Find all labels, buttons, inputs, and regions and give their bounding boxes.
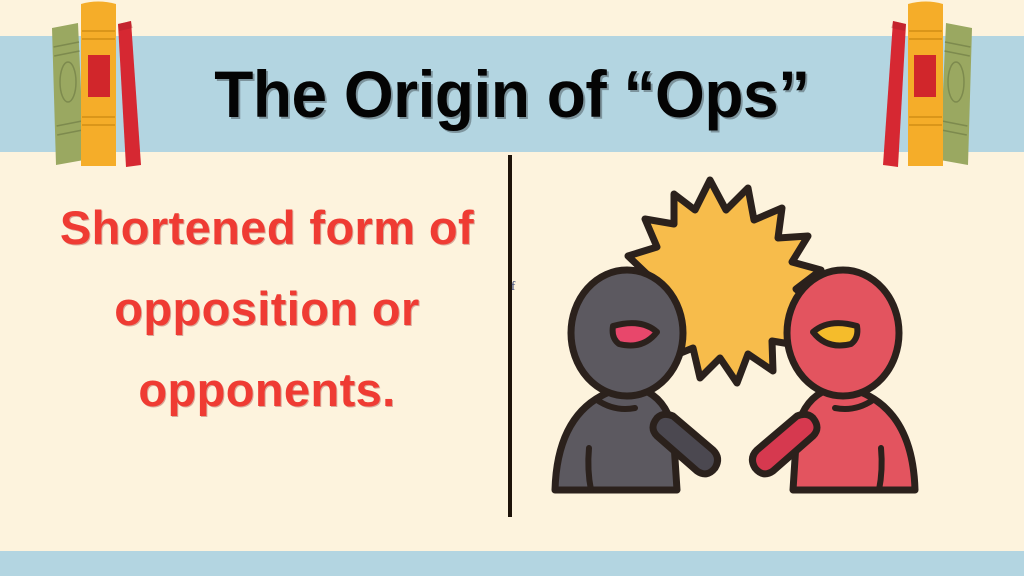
orange-book-icon (908, 2, 943, 167)
books-decoration-left (26, 0, 156, 170)
body-copy-block: Shortened form of opposition or opponent… (52, 188, 482, 508)
stray-glyph: f (511, 279, 515, 292)
slide-canvas: The Origin of “Ops” (0, 0, 1024, 576)
green-book-icon (940, 23, 972, 165)
vertical-divider (508, 155, 512, 517)
red-book-icon (118, 21, 141, 167)
books-decoration-right (868, 0, 998, 170)
red-book-icon (883, 21, 906, 167)
illustration-two-figures-clashing (545, 168, 925, 513)
body-copy-text: Shortened form of opposition or opponent… (52, 188, 482, 430)
orange-book-icon (81, 2, 116, 167)
footer-blue-band (0, 551, 1024, 576)
green-book-icon (52, 23, 84, 165)
